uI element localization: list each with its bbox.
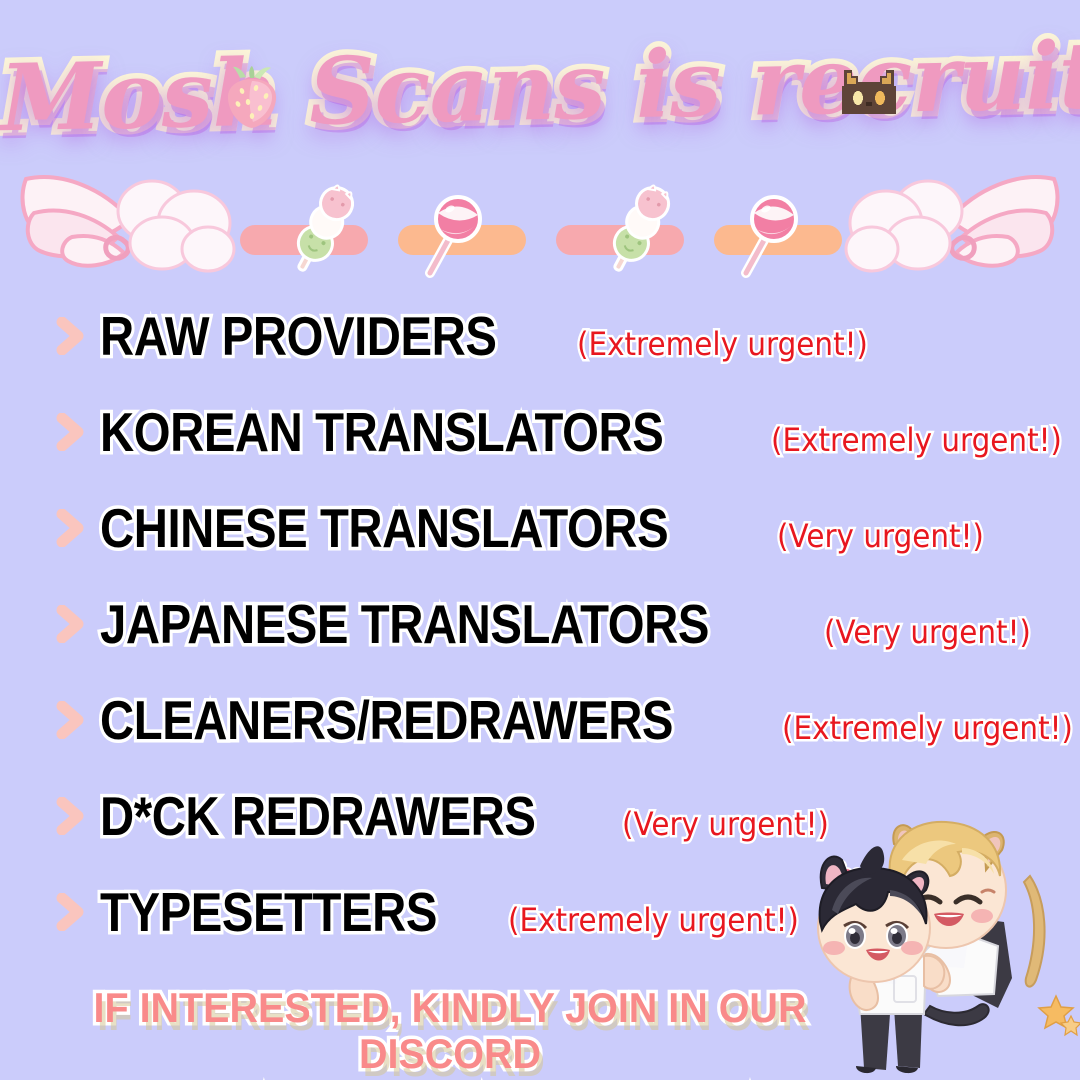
chevron-right-icon (56, 413, 86, 451)
lollipop-icon (400, 185, 486, 279)
dango-skewer-icon (598, 183, 678, 279)
list-item[interactable]: JAPANESE TRANSLATORS (Very urgent!) (0, 576, 1080, 672)
page-title: Mosh Scans is recruiting! (0, 17, 1080, 158)
role-name: RAW PROVIDERS (100, 304, 497, 368)
list-item[interactable]: KOREAN TRANSLATORS (Extremely urgent!) (0, 384, 1080, 480)
urgency-badge: (Extremely urgent!) (782, 709, 1073, 747)
footer-line-1: IF INTERESTED, KINDLY JOIN IN OUR DISCOR… (27, 985, 873, 1077)
strawberry-icon (224, 64, 280, 130)
role-name: KOREAN TRANSLATORS (100, 400, 663, 464)
angel-wings-cloud-icon (12, 165, 237, 285)
chevron-right-icon (56, 509, 86, 547)
role-name: TYPESETTERS (100, 880, 437, 944)
recruitment-poster: Mosh Scans is recruiting! (0, 0, 1080, 1080)
chevron-right-icon (56, 701, 86, 739)
list-item[interactable]: RAW PROVIDERS (Extremely urgent!) (0, 288, 1080, 384)
urgency-badge: (Extremely urgent!) (771, 421, 1062, 459)
role-name: JAPANESE TRANSLATORS (100, 592, 709, 656)
chibi-catboys-illustration (798, 818, 1080, 1080)
chevron-right-icon (56, 797, 86, 835)
urgency-badge: (Extremely urgent!) (508, 901, 799, 939)
role-name: D*CK REDRAWERS (100, 784, 535, 848)
urgency-badge: (Extremely urgent!) (577, 325, 868, 363)
list-item[interactable]: CHINESE TRANSLATORS (Very urgent!) (0, 480, 1080, 576)
dango-skewer-icon (282, 183, 362, 279)
chevron-right-icon (56, 317, 86, 355)
decorative-divider (0, 165, 1080, 285)
angel-wings-cloud-icon (843, 165, 1068, 285)
header: Mosh Scans is recruiting! (0, 28, 1080, 158)
chevron-right-icon (56, 605, 86, 643)
chevron-right-icon (56, 893, 86, 931)
yellow-stars-icon (1039, 996, 1080, 1035)
role-name: CHINESE TRANSLATORS (100, 496, 668, 560)
list-item[interactable]: CLEANERS/REDRAWERS (Extremely urgent!) (0, 672, 1080, 768)
lollipop-icon (716, 185, 802, 279)
footer-call-to-action: IF INTERESTED, KINDLY JOIN IN OUR DISCOR… (27, 985, 873, 1080)
urgency-badge: (Very urgent!) (824, 613, 1031, 651)
pixel-cat-face-icon (838, 66, 900, 124)
urgency-badge: (Very urgent!) (777, 517, 984, 555)
role-name: CLEANERS/REDRAWERS (100, 688, 673, 752)
